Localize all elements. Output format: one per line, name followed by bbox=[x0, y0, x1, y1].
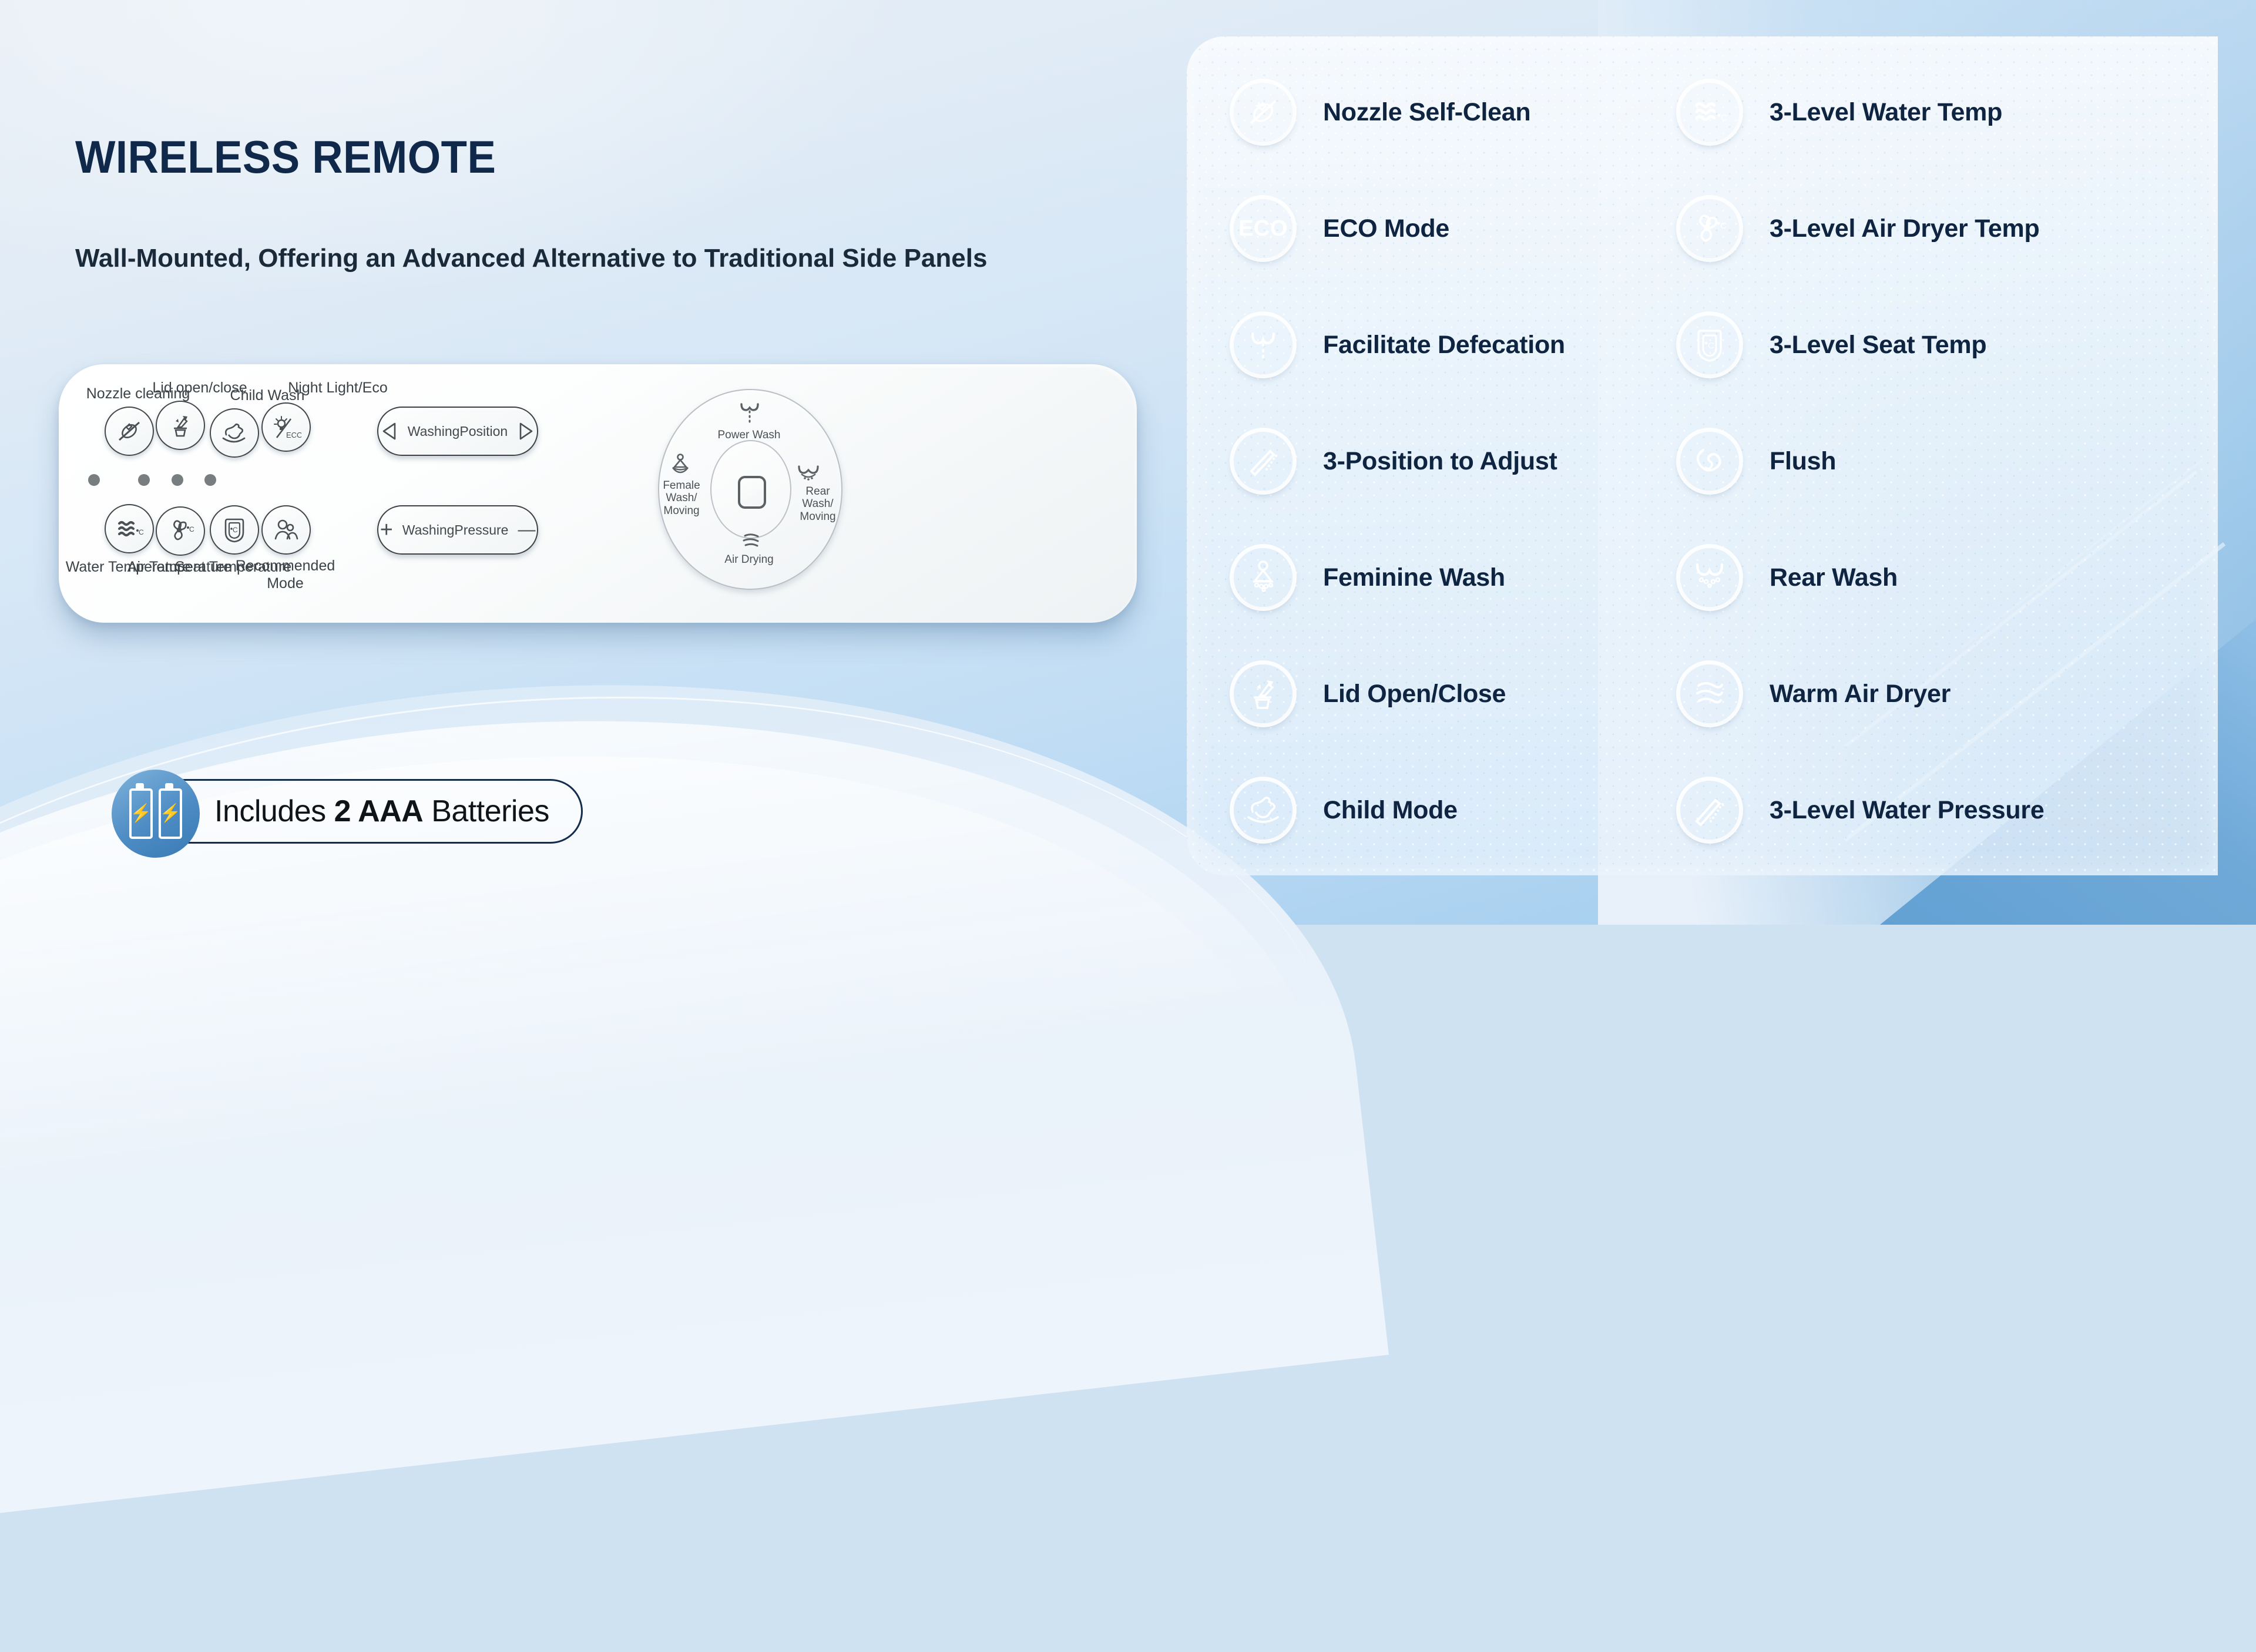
power-wash-label: Power Wash bbox=[699, 429, 799, 441]
rear-wash-label: Rear Wash/ Moving bbox=[792, 485, 844, 523]
remote-label-recommended-mode: Recommended Mode bbox=[222, 557, 348, 592]
remote-button-air-temperature[interactable]: C bbox=[156, 506, 205, 556]
feature-row-feminine-wash[interactable]: Feminine Wash bbox=[1234, 519, 1680, 636]
flush-icon bbox=[1680, 432, 1739, 491]
feature-row-air-dryer-temp[interactable]: C 3-Level Air Dryer Temp bbox=[1680, 170, 2150, 287]
seat-temp-icon: C bbox=[1680, 315, 1739, 374]
minus-icon[interactable]: — bbox=[518, 521, 535, 539]
facilitate-defecation-icon bbox=[1234, 315, 1292, 374]
remote-label-night-light-eco: Night Light/Eco bbox=[264, 379, 411, 397]
female-wash-icon bbox=[669, 454, 692, 478]
feature-label: Rear Wash bbox=[1770, 563, 1898, 592]
child-mode-icon bbox=[1234, 781, 1292, 840]
feature-label: Nozzle Self-Clean bbox=[1323, 98, 1530, 127]
washing-position-label: WashingPosition bbox=[408, 424, 508, 439]
remote-indicator-dot bbox=[138, 474, 150, 486]
nozzle-clean-icon bbox=[116, 418, 143, 445]
eco-mode-icon: ECO bbox=[1234, 199, 1292, 258]
air-dryer-temp-icon: C bbox=[1680, 199, 1739, 258]
feature-row-eco-mode[interactable]: ECO ECO Mode bbox=[1234, 170, 1680, 287]
feature-row-water-temp[interactable]: C 3-Level Water Temp bbox=[1680, 54, 2150, 170]
feature-label: Child Mode bbox=[1323, 796, 1458, 825]
washing-pressure-label: WashingPressure bbox=[402, 522, 509, 538]
feature-row-nozzle-self-clean[interactable]: Nozzle Self-Clean bbox=[1234, 54, 1680, 170]
water-pressure-icon bbox=[1680, 781, 1739, 840]
night-light-eco-icon: ECO bbox=[271, 412, 301, 442]
feature-label: 3-Level Air Dryer Temp bbox=[1770, 214, 2039, 243]
remote-button-water-temperature[interactable]: C bbox=[105, 504, 154, 553]
feature-row-rear-wash[interactable]: Rear Wash bbox=[1680, 519, 2150, 636]
nozzle-self-clean-icon bbox=[1234, 83, 1292, 142]
battery-badge-text: Includes 2 AAA Batteries bbox=[214, 794, 549, 829]
eco-text: ECO bbox=[1238, 216, 1288, 241]
remote-indicator-dot bbox=[204, 474, 216, 486]
svg-text:ECO: ECO bbox=[286, 431, 301, 439]
battery-cell-icon: ⚡ bbox=[129, 788, 153, 839]
battery-cell-icon: ⚡ bbox=[159, 788, 182, 839]
feature-row-child-mode[interactable]: Child Mode bbox=[1234, 752, 1680, 868]
feature-label: 3-Level Water Temp bbox=[1770, 98, 2002, 127]
svg-text:C: C bbox=[189, 525, 194, 533]
features-grid: Nozzle Self-Clean C 3-Level Water Temp bbox=[1234, 54, 2174, 868]
remote-button-seat-temperature[interactable]: C bbox=[210, 505, 259, 555]
svg-text:C: C bbox=[233, 526, 238, 534]
lid-open-close-icon bbox=[167, 412, 193, 438]
wireless-remote-device: Nozzle cleaning Lid open/close Child Was… bbox=[59, 364, 1137, 623]
svg-text:C: C bbox=[1708, 341, 1714, 351]
chevron-left-icon[interactable] bbox=[381, 422, 398, 441]
feature-label: Lid Open/Close bbox=[1323, 680, 1506, 709]
washing-pressure-button[interactable]: + WashingPressure — bbox=[377, 505, 538, 555]
feature-label: Warm Air Dryer bbox=[1770, 680, 1950, 709]
feature-label: 3-Level Seat Temp bbox=[1770, 331, 1986, 360]
feature-row-warm-air-dryer[interactable]: Warm Air Dryer bbox=[1680, 636, 2150, 752]
air-temperature-fan-icon: C bbox=[166, 517, 194, 545]
page-subtitle: Wall-Mounted, Offering an Advanced Alter… bbox=[75, 241, 1062, 276]
water-temperature-icon: C bbox=[115, 516, 144, 541]
feature-row-lid-open-close[interactable]: Lid Open/Close bbox=[1234, 636, 1680, 752]
feature-label: Flush bbox=[1770, 447, 1836, 476]
air-drying-label: Air Drying bbox=[702, 553, 796, 566]
chevron-right-icon[interactable] bbox=[517, 422, 535, 441]
feature-label: ECO Mode bbox=[1323, 214, 1449, 243]
remote-button-nozzle-cleaning[interactable] bbox=[105, 407, 154, 456]
water-temp-icon: C bbox=[1680, 83, 1739, 142]
female-wash-label: Female Wash/ Moving bbox=[654, 479, 709, 517]
rear-wash-icon bbox=[1680, 548, 1739, 607]
remote-button-child-wash[interactable] bbox=[210, 408, 259, 458]
feature-label: Facilitate Defecation bbox=[1323, 331, 1565, 360]
remote-indicator-dot bbox=[88, 474, 100, 486]
feature-label: 3-Level Water Pressure bbox=[1770, 796, 2044, 825]
feminine-wash-icon bbox=[1234, 548, 1292, 607]
feature-label: Feminine Wash bbox=[1323, 563, 1505, 592]
remote-button-lid-open-close[interactable] bbox=[156, 401, 205, 450]
svg-text:C: C bbox=[1721, 113, 1727, 123]
svg-text:C: C bbox=[1720, 221, 1727, 231]
feature-row-seat-temp[interactable]: C 3-Level Seat Temp bbox=[1680, 287, 2150, 403]
power-wash-icon bbox=[736, 401, 764, 425]
warm-air-dryer-icon bbox=[1680, 664, 1739, 723]
seat-temperature-icon: C bbox=[222, 516, 247, 544]
remote-indicator-dot bbox=[172, 474, 183, 486]
rocking-horse-icon bbox=[220, 421, 249, 445]
feature-row-water-pressure[interactable]: 3-Level Water Pressure bbox=[1680, 752, 2150, 868]
battery-badge-pill: Includes 2 AAA Batteries bbox=[147, 779, 583, 844]
remote-button-recommended-mode[interactable] bbox=[261, 505, 311, 555]
battery-icon-circle: ⚡ ⚡ bbox=[112, 770, 200, 858]
lid-open-close-icon bbox=[1234, 664, 1292, 723]
plus-icon[interactable]: + bbox=[380, 519, 393, 541]
feature-row-facilitate-defecation[interactable]: Facilitate Defecation bbox=[1234, 287, 1680, 403]
feature-label: 3-Position to Adjust bbox=[1323, 447, 1557, 476]
feature-row-three-position-adjust[interactable]: 3-Position to Adjust bbox=[1234, 403, 1680, 519]
remote-button-night-light-eco[interactable]: ECO bbox=[261, 402, 311, 452]
air-drying-icon bbox=[739, 532, 765, 551]
svg-text:C: C bbox=[139, 528, 144, 536]
features-panel: Nozzle Self-Clean C 3-Level Water Temp bbox=[1187, 36, 2218, 875]
dial-center-button[interactable] bbox=[738, 476, 766, 509]
feature-row-flush[interactable]: Flush bbox=[1680, 403, 2150, 519]
recommended-mode-people-icon bbox=[272, 518, 300, 542]
three-position-adjust-icon bbox=[1234, 432, 1292, 491]
page-title: WIRELESS REMOTE bbox=[75, 134, 496, 180]
washing-position-button[interactable]: WashingPosition bbox=[377, 407, 538, 456]
